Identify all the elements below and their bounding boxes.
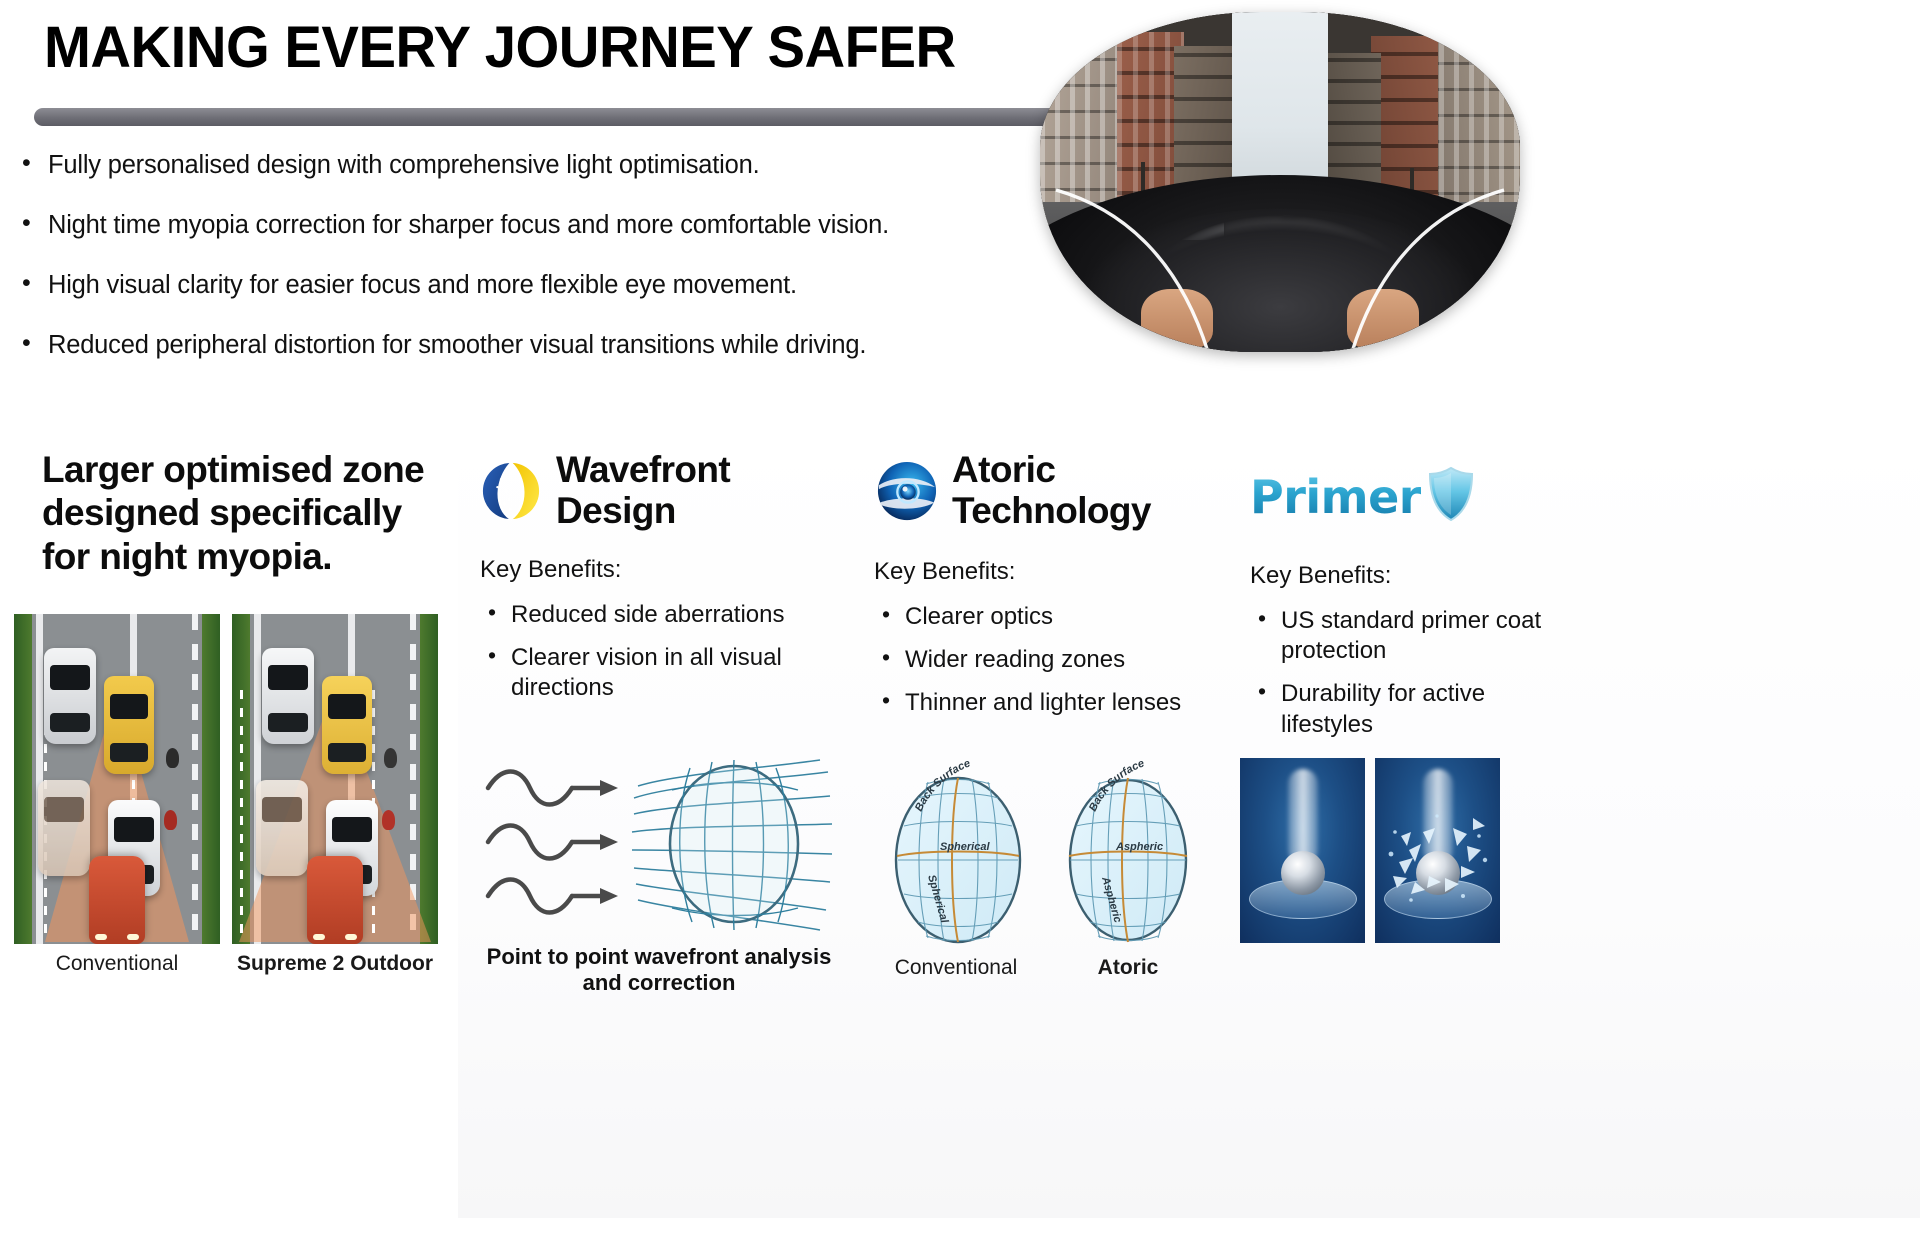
card-title-line2: Technology [952,491,1151,532]
list-item: Fully personalised design with comprehen… [18,150,1028,182]
pedestrian-icon [382,810,395,830]
list-item: Clearer optics [878,602,1208,632]
wavefront-benefits-list: Reduced side aberrations Clearer vision … [484,600,834,717]
lane-marking [192,614,198,944]
list-item: Clearer vision in all visual directions [484,643,834,703]
card-heading: Larger optimised zone designed specifica… [42,448,452,578]
caption-supreme2: Supreme 2 Outdoor [232,952,438,976]
drop-ball-test-shattered [1375,758,1500,943]
key-benefits-label: Key Benefits: [1250,562,1391,590]
car-icon [322,676,372,774]
list-item: Durability for active lifestyles [1254,679,1554,739]
drop-ball-test-intact [1240,758,1365,943]
card-optimised-zone: Larger optimised zone designed specifica… [0,428,458,1218]
ego-vehicle [307,856,363,944]
card-title-line1: Wavefront [556,450,730,491]
road-topdown-conventional [14,614,220,944]
list-item: Night time myopia correction for sharper… [18,210,1028,242]
pedestrian-icon [384,748,397,768]
label-spherical-horizontal: Spherical [940,841,990,853]
lens-driving-photo [1040,12,1520,352]
list-item: US standard primer coat protection [1254,606,1554,666]
wavefront-grid-sphere-diagram [476,754,842,934]
atoric-header: Atoric Technology [876,450,1151,531]
page-title: MAKING EVERY JOURNEY SAFER [44,18,956,79]
car-icon [104,676,154,774]
hand-right [1347,289,1419,349]
wavefront-sun-moon-icon [480,460,542,522]
grass-verge [202,614,220,944]
wavefront-header: Wavefront Design [480,450,730,531]
card-primer: Primer Key Benefits: [1218,428,1920,1218]
road-captions: Conventional Supreme 2 Outdoor [14,952,438,976]
list-item: Thinner and lighter lenses [878,688,1208,718]
caption-atoric: Atoric [1048,956,1208,980]
card-atoric-technology: Atoric Technology Key Benefits: Clearer … [858,428,1218,1218]
car-icon [44,648,96,744]
caption-conventional: Conventional [864,956,1048,980]
slide-root: MAKING EVERY JOURNEY SAFER Fully persona… [0,0,1920,1247]
sky [1232,12,1328,202]
caption-line1: Point to point wavefront analysis [487,944,832,969]
card-title-line2: Design [556,491,730,532]
caption-line2: and correction [583,970,736,995]
list-item: High visual clarity for easier focus and… [18,270,1028,302]
feature-cards-row: Larger optimised zone designed specifica… [0,428,1920,1247]
primer-impact-test-images [1240,758,1500,943]
label-aspheric-horizontal: Aspheric [1115,841,1163,853]
street-scene [1040,12,1520,352]
steel-ball [1281,851,1325,895]
card-title-line1: Atoric [952,450,1151,491]
shield-icon [1427,466,1475,527]
road-comparison-images [14,614,438,944]
road-topdown-supreme2 [232,614,438,944]
primer-wordmark: Primer [1250,470,1421,524]
caption-conventional: Conventional [14,952,220,976]
beam-edge-left [240,690,243,940]
atoric-benefits-list: Clearer optics Wider reading zones Thinn… [878,602,1208,732]
grass-verge [14,614,32,944]
key-benefits-label: Key Benefits: [874,558,1015,586]
atoric-eye-sphere-icon [876,460,938,522]
lens-sphere-conventional-diagram: Back Surface Spherical Spherical [896,757,1020,942]
wavefront-diagram-caption: Point to point wavefront analysis and co… [464,944,854,997]
car-icon [38,780,90,876]
atoric-lens-diagrams: Back Surface Spherical Spherical [866,748,1210,958]
primer-header: Primer [1250,466,1475,527]
car-icon [256,780,308,876]
header-bullet-list: Fully personalised design with comprehen… [18,150,1028,390]
key-benefits-label: Key Benefits: [480,556,621,584]
shatter-fragments [1375,758,1500,943]
card-wavefront-design: Wavefront Design Key Benefits: Reduced s… [458,428,858,1218]
pedestrian-icon [166,748,179,768]
edge-line [36,614,43,944]
ego-vehicle [89,856,145,944]
primer-benefits-list: US standard primer coat protection Durab… [1254,606,1554,753]
car-icon [262,648,314,744]
lens-sphere-atoric-diagram: Back Surface Aspheric Aspheric [1069,757,1187,942]
hand-left [1141,289,1213,349]
list-item: Reduced peripheral distortion for smooth… [18,330,1028,362]
lens-shape-mask [1040,12,1520,352]
list-item: Reduced side aberrations [484,600,834,630]
pedestrian-icon [164,810,177,830]
atoric-captions: Conventional Atoric [864,956,1212,980]
list-item: Wider reading zones [878,645,1208,675]
